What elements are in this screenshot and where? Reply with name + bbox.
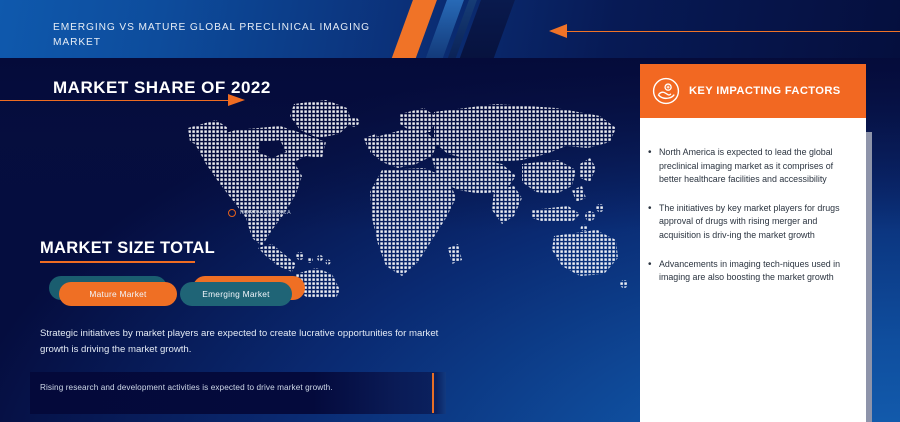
bullet-icon: •	[648, 146, 659, 187]
hand-holding-coin-icon	[652, 77, 680, 105]
segment-mature-market[interactable]: Mature Market	[49, 276, 179, 308]
body-paragraph: Strategic initiatives by market players …	[40, 326, 460, 357]
footer-band	[30, 372, 446, 414]
footer-text: Rising research and development activiti…	[40, 383, 430, 392]
map-pin-circle-icon	[228, 209, 236, 217]
footer-band-edge	[437, 372, 446, 414]
segment-emerging-market[interactable]: Emerging Market	[180, 276, 305, 308]
card-shadow	[866, 132, 872, 422]
list-item-text: North America is expected to lead the gl…	[659, 146, 856, 187]
list-item-text: Advancements in imaging tech-niques used…	[659, 258, 856, 285]
list-item: • The initiatives by key market players …	[648, 202, 856, 243]
key-factors-list: • North America is expected to lead the …	[648, 146, 856, 300]
pill-label-emerging[interactable]: Emerging Market	[180, 282, 292, 306]
list-item: • Advancements in imaging tech-niques us…	[648, 258, 856, 285]
market-size-heading: MARKET SIZE TOTAL	[40, 239, 215, 258]
key-factors-header: KEY IMPACTING FACTORS	[640, 64, 866, 118]
dotted-world-map	[176, 98, 628, 298]
map-region-label: NORTH AMERICA	[240, 210, 291, 216]
key-factors-title: KEY IMPACTING FACTORS	[689, 85, 841, 97]
footer-accent-line	[432, 373, 434, 413]
header-arrow-line	[566, 31, 900, 32]
bullet-icon: •	[648, 258, 659, 285]
arrow-left-icon	[549, 24, 567, 38]
market-size-underline	[40, 261, 195, 263]
infographic-slide: EMERGING VS MATURE GLOBAL PRECLINICAL IM…	[0, 0, 900, 422]
bullet-icon: •	[648, 202, 659, 243]
list-item: • North America is expected to lead the …	[648, 146, 856, 187]
pill-label-mature[interactable]: Mature Market	[59, 282, 177, 306]
page-title: EMERGING VS MATURE GLOBAL PRECLINICAL IM…	[53, 20, 383, 50]
list-item-text: The initiatives by key market players fo…	[659, 202, 856, 243]
